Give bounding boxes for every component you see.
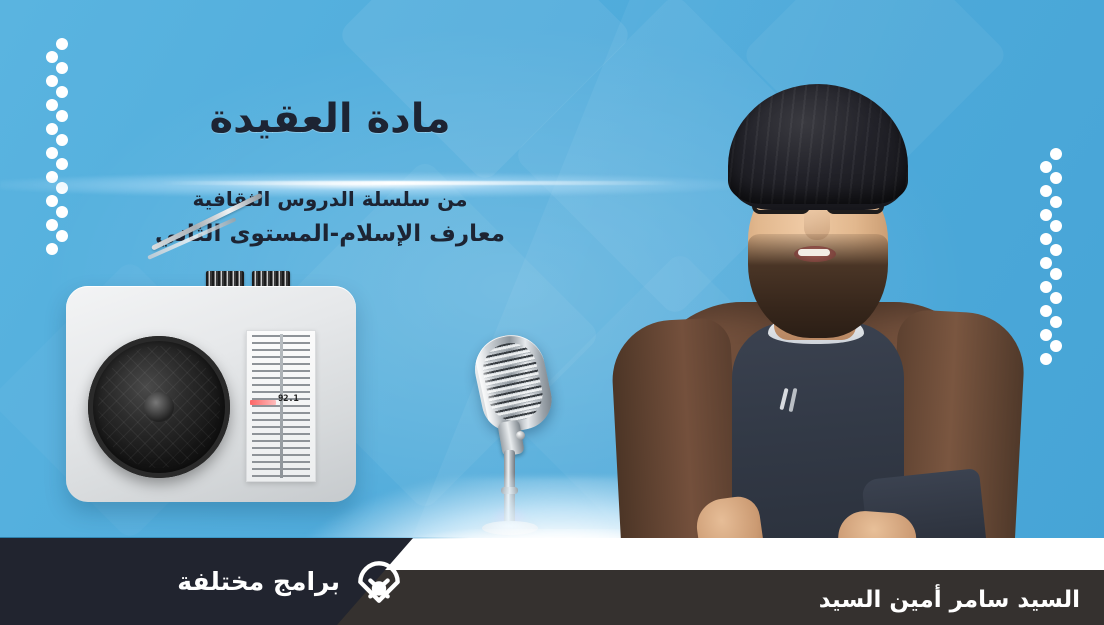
speaker-portrait (616, 92, 1020, 570)
dot (1040, 329, 1052, 341)
dot (1040, 233, 1052, 245)
dot (1040, 257, 1052, 269)
vintage-radio-icon: 92.1 (66, 262, 356, 512)
subtitle-line-2: معارف الإسلام-المستوى الثاني (0, 219, 660, 250)
radio-tuning-dial[interactable]: 92.1 (246, 330, 316, 482)
dot (46, 51, 58, 63)
dot (1040, 161, 1052, 173)
dot (1040, 185, 1052, 197)
dot (1040, 281, 1052, 293)
portrait-turban (728, 84, 908, 204)
footer-brand-content: برامج مختلفة (0, 538, 430, 625)
dot (1050, 148, 1062, 160)
dot (1040, 209, 1052, 221)
broadcast-title-card: مادة العقيدة من سلسلة الدروس الثقافية مع… (0, 0, 1104, 625)
dial-center-line (280, 334, 283, 478)
dot (46, 75, 58, 87)
dot-column (1040, 161, 1052, 365)
dial-frequency-label: 92.1 (278, 394, 298, 404)
dot-pattern-right (1040, 148, 1062, 365)
radio-speaker (88, 336, 230, 478)
subtitle-line-1: من سلسلة الدروس الثقافية (0, 186, 660, 213)
dot (1040, 305, 1052, 317)
dial-needle (250, 400, 276, 405)
dot (56, 38, 68, 50)
page-title: مادة العقيدة (0, 96, 660, 142)
radio-body: 92.1 (66, 286, 356, 502)
microphone-pivot-screw (516, 431, 525, 440)
title-block: مادة العقيدة من سلسلة الدروس الثقافية مع… (0, 96, 660, 250)
brand-label: برامج مختلفة (177, 567, 340, 596)
dot (1040, 353, 1052, 365)
different-programs-logo-icon (356, 559, 402, 605)
speaker-name: السيد سامر أمين السيد (819, 587, 1080, 613)
portrait-teeth (798, 249, 830, 256)
